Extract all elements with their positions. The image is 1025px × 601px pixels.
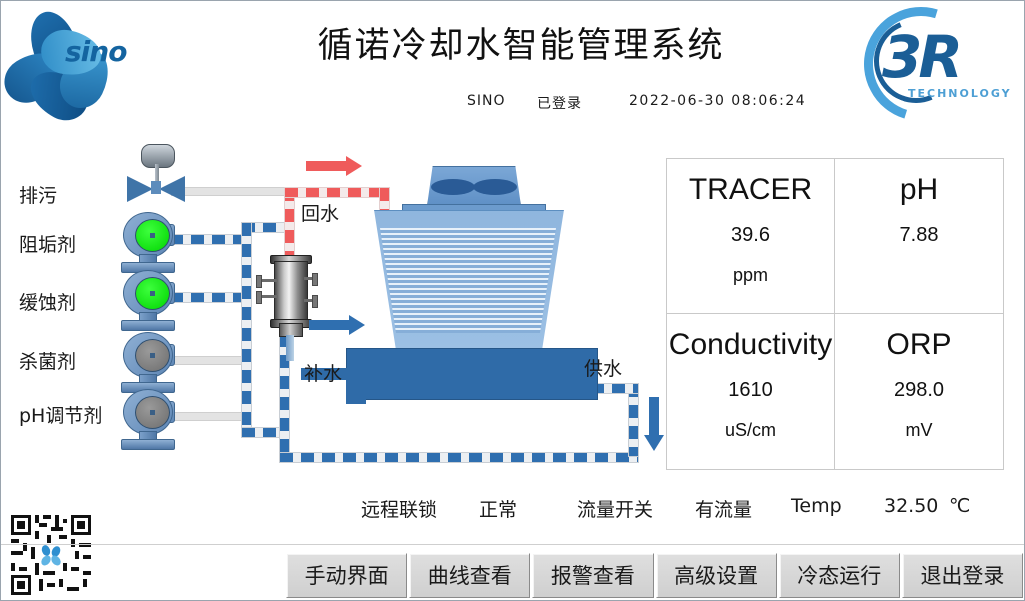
blowdown-valve[interactable] xyxy=(121,144,191,200)
analyzer-outlet-stub xyxy=(286,335,294,361)
pump-status-indicator xyxy=(135,339,170,372)
measurement-name: ORP xyxy=(886,328,951,361)
button-trend-view[interactable]: 曲线查看 xyxy=(409,553,530,598)
measurement-value: 7.88 xyxy=(900,224,939,247)
dosing-label-biocide: 杀菌剂 xyxy=(19,347,76,374)
button-logout[interactable]: 退出登录 xyxy=(902,553,1023,598)
pipe-biocide xyxy=(171,356,249,365)
pipe-ph-adjuster xyxy=(171,412,249,421)
user-name: SINO xyxy=(467,93,506,109)
measurement-value: 1610 xyxy=(728,379,773,402)
measurement-cell-conductivity: Conductivity 1610 uS/cm xyxy=(667,314,835,469)
measurement-name: TRACER xyxy=(689,173,812,206)
hmi-screen: sino 循诺冷却水智能管理系统 SINO 已登录 2022-06-30 08:… xyxy=(0,0,1025,601)
sensor-analyzer-chamber[interactable] xyxy=(266,251,314,341)
pump-base xyxy=(121,439,175,450)
footer-divider xyxy=(1,544,1024,545)
probe-icon xyxy=(256,291,262,304)
status-value-flow-switch: 有流量 xyxy=(695,495,752,522)
measurement-unit: mV xyxy=(906,420,933,441)
valve-body-right xyxy=(159,176,185,202)
pump-housing xyxy=(123,270,173,316)
probe-icon xyxy=(256,275,262,288)
measurement-unit: uS/cm xyxy=(725,420,776,441)
pump-shaft-dot xyxy=(150,233,155,238)
measurement-name: Conductivity xyxy=(669,328,832,361)
pump-status-indicator xyxy=(135,396,170,429)
measurement-panel: TRACER 39.6 ppm pH 7.88 Conductivity 161… xyxy=(666,158,1004,470)
pump-biocide[interactable] xyxy=(119,332,175,392)
flow-label-supply: 供水 xyxy=(584,354,622,381)
pipe-loop-left xyxy=(241,222,252,438)
status-label-remote-interlock: 远程联锁 xyxy=(361,495,437,522)
fan-blade-icon xyxy=(473,179,517,195)
measurement-name: pH xyxy=(900,173,938,206)
pump-housing xyxy=(123,332,173,378)
arrow-return-flow xyxy=(306,161,362,171)
navigation-button-bar: 手动界面 曲线查看 报警查看 高级设置 冷态运行 退出登录 xyxy=(285,548,1024,601)
dosing-label-corrosion-inhibitor: 缓蚀剂 xyxy=(19,288,76,315)
pump-housing xyxy=(123,212,173,258)
fan-blade-icon xyxy=(431,179,475,195)
three-r-tagline: TECHNOLOGY xyxy=(908,87,1012,100)
flow-label-return: 回水 xyxy=(301,199,339,226)
dosing-label-ph-adjuster: pH调节剂 xyxy=(19,401,102,428)
analyzer-shell xyxy=(274,261,308,325)
pipe-corrosion-feed xyxy=(169,292,251,303)
pipe-loop-bottom xyxy=(279,452,639,463)
probe-icon xyxy=(312,295,318,308)
three-r-wordmark: 3R xyxy=(882,23,959,91)
pipe-antiscalant-feed xyxy=(169,234,251,245)
status-value-temp: 32.50 xyxy=(884,495,938,517)
pump-antiscalant[interactable] xyxy=(119,212,175,272)
sino-wordmark: sino xyxy=(65,35,126,68)
tower-basin xyxy=(346,348,598,400)
status-value-remote-interlock: 正常 xyxy=(479,495,517,522)
pump-corrosion-inhibitor[interactable] xyxy=(119,270,175,330)
pump-status-indicator xyxy=(135,277,170,310)
button-alarm-view[interactable]: 报警查看 xyxy=(532,553,653,598)
pipe-loop-right xyxy=(628,383,639,457)
pump-housing xyxy=(123,389,173,435)
three-r-logo: 3R TECHNOLOGY xyxy=(864,5,1014,115)
status-bar: 远程联锁 正常 流量开关 有流量 Temp 32.50 ℃ xyxy=(1,495,1024,531)
tower-fill-media xyxy=(368,228,568,333)
pump-shaft-dot xyxy=(150,291,155,296)
flow-label-makeup: 补水 xyxy=(304,359,342,386)
button-manual-interface[interactable]: 手动界面 xyxy=(286,553,407,598)
measurement-value: 298.0 xyxy=(894,379,944,402)
pump-ph-adjuster[interactable] xyxy=(119,389,175,449)
sino-logo: sino xyxy=(9,9,209,109)
measurement-unit: ppm xyxy=(733,265,768,286)
pump-status-indicator xyxy=(135,219,170,252)
qr-code xyxy=(9,513,93,597)
measurement-cell-tracer: TRACER 39.6 ppm xyxy=(667,159,835,314)
header: sino 循诺冷却水智能管理系统 SINO 已登录 2022-06-30 08:… xyxy=(1,1,1024,129)
pump-shaft-dot xyxy=(150,353,155,358)
tower-fan-housing xyxy=(427,166,521,206)
arrow-supply-flow xyxy=(649,397,659,451)
button-cold-start-run[interactable]: 冷态运行 xyxy=(779,553,900,598)
qr-center-logo xyxy=(39,543,63,567)
measurement-cell-ph: pH 7.88 xyxy=(835,159,1003,314)
arrow-makeup-flow xyxy=(309,320,365,330)
page-title: 循诺冷却水智能管理系统 xyxy=(291,17,751,68)
dosing-label-antiscalant: 阻垢剂 xyxy=(19,230,76,257)
button-advanced-settings[interactable]: 高级设置 xyxy=(656,553,777,598)
status-unit-temp: ℃ xyxy=(949,495,970,517)
pump-base xyxy=(121,320,175,331)
valve-center xyxy=(151,181,161,194)
pump-shaft-dot xyxy=(150,410,155,415)
login-status: 已登录 xyxy=(537,93,582,113)
datetime-display: 2022-06-30 08:06:24 xyxy=(629,93,806,109)
measurement-value: 39.6 xyxy=(731,224,770,247)
measurement-cell-orp: ORP 298.0 mV xyxy=(835,314,1003,469)
cooling-tower xyxy=(346,166,596,416)
status-label-flow-switch: 流量开关 xyxy=(577,495,653,522)
status-label-temp: Temp xyxy=(791,495,842,517)
probe-icon xyxy=(312,273,318,286)
dosing-label-blowdown: 排污 xyxy=(19,181,57,208)
valve-body-left xyxy=(127,176,153,202)
